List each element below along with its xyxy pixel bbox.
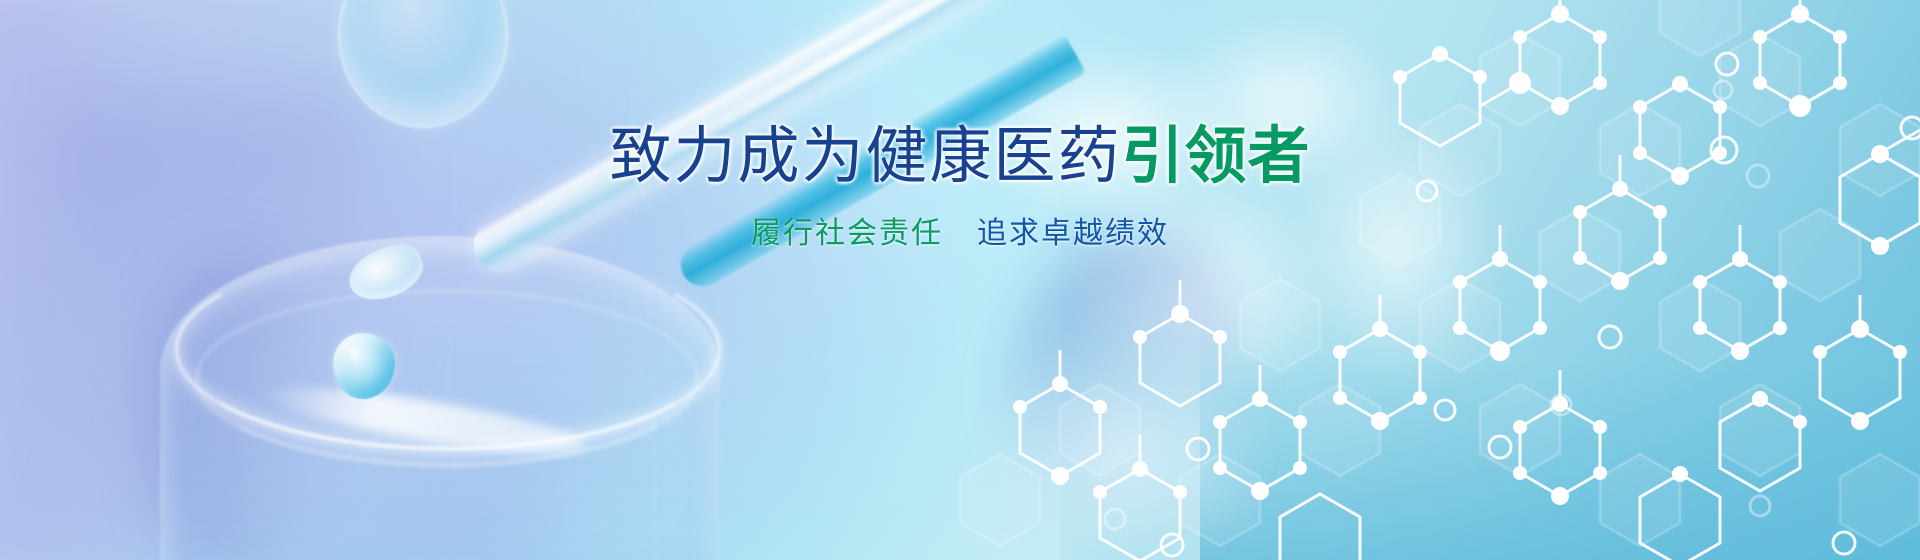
headline-blue-text: 致力成为健康医药 <box>609 122 1121 191</box>
subtitle-blue-text: 追求卓越绩效 <box>977 217 1169 250</box>
banner-subtitle: 履行社会责任追求卓越绩效 <box>0 208 1920 252</box>
banner-text-block: 致力成为健康医药引领者 履行社会责任追求卓越绩效 <box>0 0 1920 560</box>
banner-headline: 致力成为健康医药引领者 <box>0 124 1920 189</box>
subtitle-green-text: 履行社会责任 <box>751 217 943 250</box>
hero-banner: 致力成为健康医药引领者 履行社会责任追求卓越绩效 <box>0 0 1920 560</box>
headline-green-text: 引领者 <box>1122 122 1311 191</box>
